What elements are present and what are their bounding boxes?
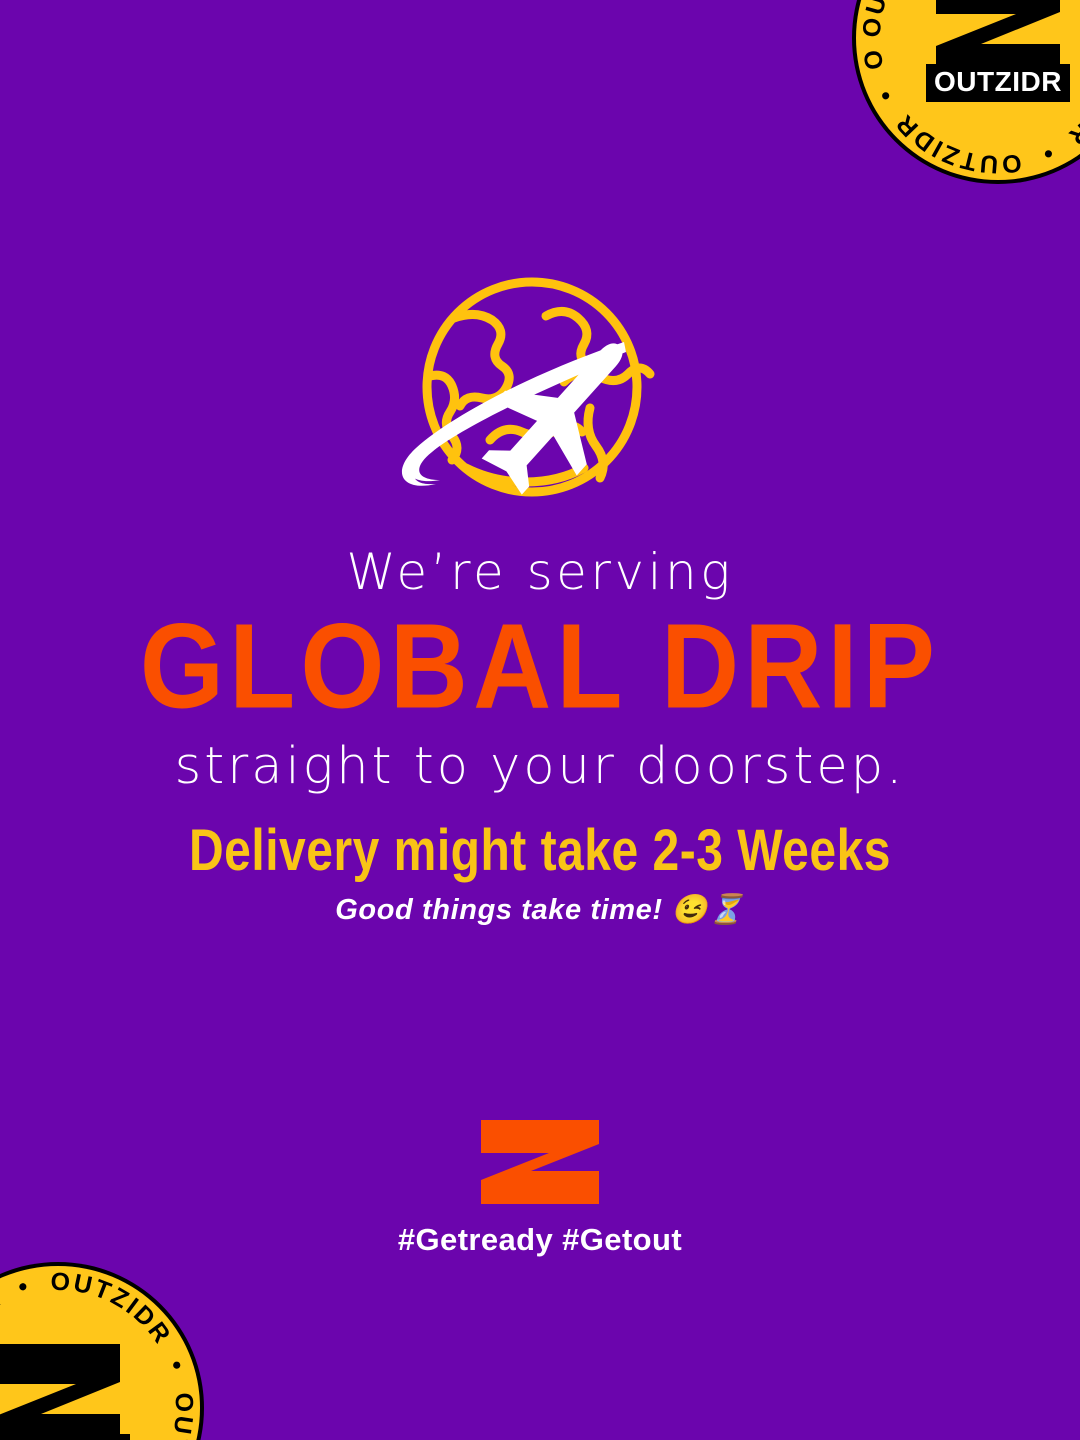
delivery-subtext: Good things take time! 😉⏳ — [0, 895, 1080, 927]
delivery-note-block: Delivery might take 2-3 Weeks Good thing… — [0, 820, 1080, 927]
headline-line-2: GLOBAL DRIP — [0, 600, 1080, 735]
promo-poster: OUTZIDR • OUTZIDR • OUTZIDR • OUTZIDR • … — [0, 0, 1080, 1440]
delivery-time-text: Delivery might take 2-3 Weeks — [0, 820, 1080, 884]
headline-block: We’re serving GLOBAL DRIP straight to yo… — [0, 545, 1080, 795]
badge-wordmark: OUTZIDR — [934, 66, 1062, 97]
globe-with-airplane-icon — [350, 272, 730, 520]
headline-line-3: straight to your doorstep. — [0, 739, 1080, 794]
z-logo-mark — [479, 1118, 601, 1206]
brand-badge-bottom-left: OUTZIDR • OUTZIDR • OUTZIDR • OUTZIDR • … — [0, 1258, 208, 1440]
brand-badge-top-right: OUTZIDR • OUTZIDR • OUTZIDR • OUTZIDR • … — [848, 0, 1080, 188]
footer-block: #Getready #Getout — [0, 1118, 1080, 1258]
headline-line-1: We’re serving — [0, 545, 1080, 599]
badge-wordmark: OUTZIDR — [0, 1436, 122, 1440]
hashtags-text: #Getready #Getout — [0, 1222, 1080, 1258]
